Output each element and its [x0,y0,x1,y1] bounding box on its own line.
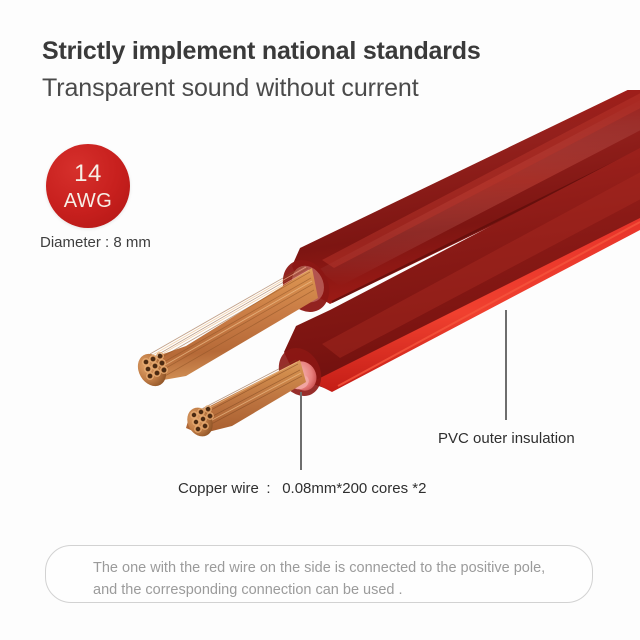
note-line-2: and the corresponding connection can be … [93,579,573,601]
note-text: The one with the red wire on the side is… [93,557,573,602]
leader-line-copper [300,392,302,470]
callout-pvc-outer-insulation: PVC outer insulation [438,430,575,447]
note-line-1: The one with the red wire on the side is… [93,557,573,579]
leader-line-pvc [505,310,507,420]
cable-illustration [0,90,640,450]
callout-copper-wire: Copper wire : 0.08mm*200 cores *2 [178,480,426,497]
page-title: Strictly implement national standards [42,36,602,66]
infographic-canvas: Strictly implement national standards Tr… [0,0,640,640]
copper-bundle-lower [182,360,306,441]
